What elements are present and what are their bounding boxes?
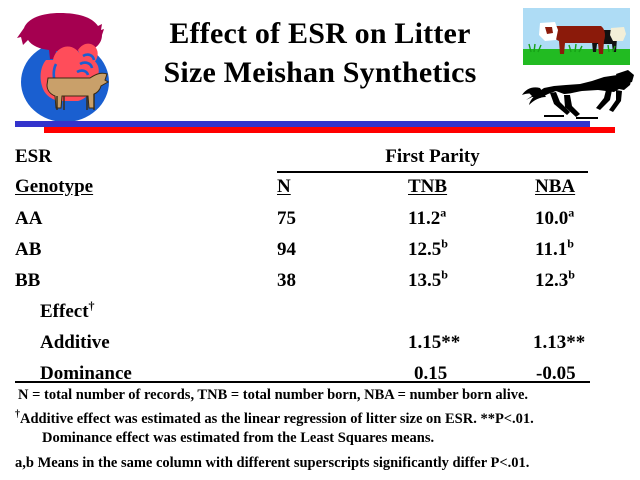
- divider-bar-red: [44, 127, 615, 133]
- horse-hind-legs: [550, 92, 580, 117]
- table-corner-label-bottom: Genotype: [15, 176, 93, 198]
- table-cell-nba-value: 11.1: [535, 239, 567, 260]
- table-cell-nba: 12.3b: [535, 270, 575, 292]
- footnote-dagger: †Additive effect was estimated as the li…: [15, 411, 534, 428]
- slide-title: Effect of ESR on Litter Size Meishan Syn…: [120, 14, 520, 92]
- livestock-logo: [8, 4, 118, 122]
- table-effect-row-label: Additive: [40, 332, 110, 354]
- galloping-horse-silhouette: [520, 68, 635, 123]
- table-cell-nba: 10.0a: [535, 208, 574, 230]
- table-span-header-first-parity: First Parity: [277, 146, 588, 168]
- table-column-header-n: N: [277, 176, 291, 198]
- footnote-definitions: N = total number of records, TNB = total…: [18, 387, 528, 404]
- cattle-pasture-svg: [523, 8, 630, 65]
- livestock-logo-svg: [8, 4, 118, 122]
- horse-svg: [520, 68, 635, 123]
- table-cell-n: 75: [277, 208, 296, 230]
- table-effect-heading-label: Effect: [40, 301, 89, 322]
- table-effect-heading-dagger: †: [89, 299, 95, 313]
- table-cell-tnb-value: 12.5: [408, 239, 441, 260]
- table-bottom-rule: [15, 381, 590, 383]
- cattle-pasture-photo: [523, 8, 630, 65]
- table-span-rule: [277, 171, 588, 173]
- horse-ground-marks: [544, 116, 598, 118]
- table-cell-tnb-value: 13.5: [408, 270, 441, 291]
- horse-fore-legs: [596, 90, 622, 112]
- table-cell-nba-value: 12.3: [535, 270, 568, 291]
- table-cell-nba-superscript: a: [568, 206, 574, 220]
- table-effect-heading: Effect†: [40, 301, 95, 323]
- table-cell-nba-value: 10.0: [535, 208, 568, 229]
- table-effect-cell-nba: 1.13**: [533, 332, 585, 354]
- table-cell-nba: 11.1b: [535, 239, 574, 261]
- table-cell-tnb: 13.5b: [408, 270, 448, 292]
- table-column-header-nba: NBA: [535, 176, 575, 198]
- footnote-dagger-text: Additive effect was estimated as the lin…: [20, 411, 534, 427]
- table-cell-n: 38: [277, 270, 296, 292]
- table-cell-n: 94: [277, 239, 296, 261]
- table-cell-nba-superscript: b: [567, 237, 574, 251]
- results-table: ESR Genotype First Parity N TNB NBA AA 7…: [0, 140, 640, 385]
- slide-title-line-2: Size Meishan Synthetics: [120, 53, 520, 92]
- photo-black-cow-head: [610, 27, 626, 41]
- table-column-header-tnb: TNB: [408, 176, 447, 198]
- table-cell-tnb-superscript: a: [440, 206, 446, 220]
- table-cell-tnb-value: 11.2: [408, 208, 440, 229]
- table-cell-nba-superscript: b: [568, 268, 575, 282]
- table-row-genotype: BB: [15, 270, 40, 292]
- footnote-dominance: Dominance effect was estimated from the …: [42, 430, 434, 447]
- table-cell-tnb-superscript: b: [441, 268, 448, 282]
- footnote-superscript-legend: a,b Means in the same column with differ…: [15, 455, 529, 472]
- table-cell-tnb-superscript: b: [441, 237, 448, 251]
- table-effect-cell-tnb: 1.15**: [408, 332, 460, 354]
- slide-title-line-1: Effect of ESR on Litter: [120, 14, 520, 53]
- table-cell-tnb: 11.2a: [408, 208, 446, 230]
- table-corner-label-top: ESR: [15, 146, 52, 168]
- slide-canvas: Effect of ESR on Litter Size Meishan Syn…: [0, 0, 640, 480]
- table-row-genotype: AA: [15, 208, 42, 230]
- table-row-genotype: AB: [15, 239, 41, 261]
- table-cell-tnb: 12.5b: [408, 239, 448, 261]
